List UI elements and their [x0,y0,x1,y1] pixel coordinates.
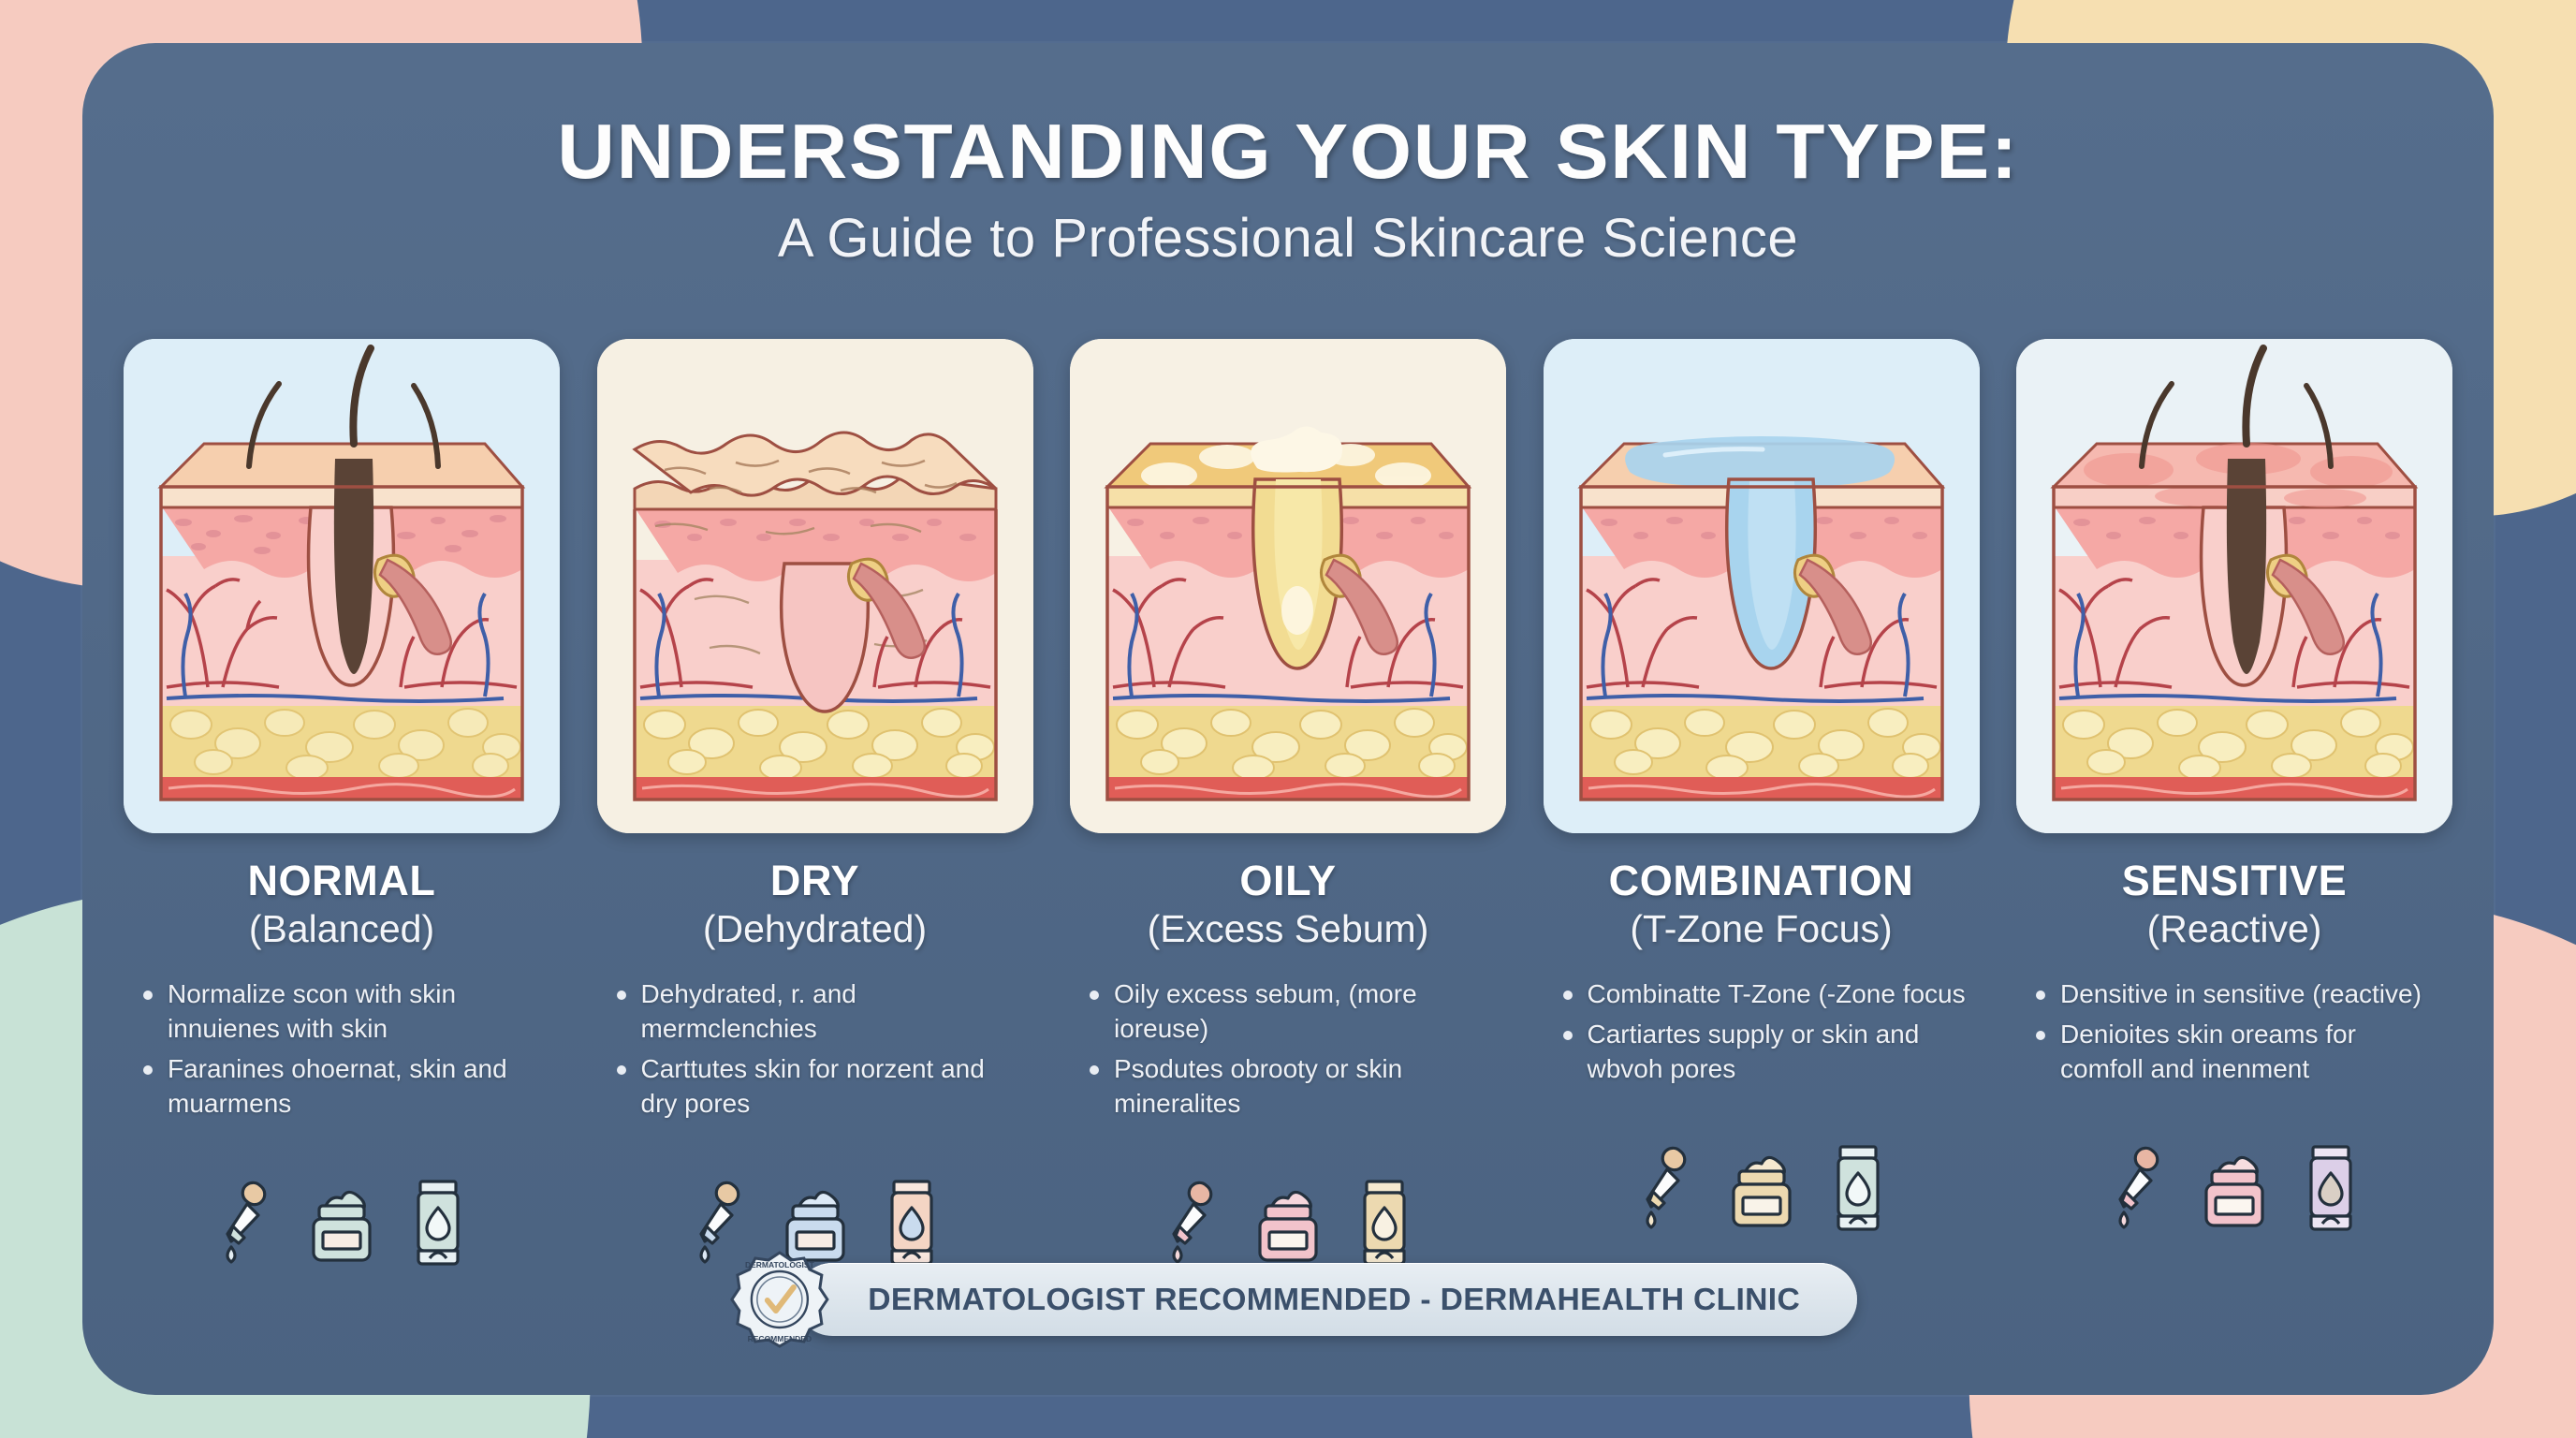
list-item: Oily excess sebum, (more ioreuse) [1082,977,1494,1047]
dropper-icon[interactable] [216,1180,274,1266]
card-bullet-list: Densitive in sensitive (reactive) Denioi… [2028,977,2440,1093]
card-title: DRY [770,859,859,902]
skin-type-card-combination[interactable]: COMBINATION (T-Zone Focus) Combinatte T-… [1542,339,1982,1266]
cream-jar-icon[interactable] [306,1185,377,1266]
skin-cross-section-dry [597,339,1033,833]
card-title: SENSITIVE [2122,859,2347,902]
list-item: Faranines ohoernat, skin and muarmens [136,1052,548,1122]
skin-cross-section-normal [124,339,560,833]
skin-type-card-sensitive[interactable]: SENSITIVE (Reactive) Densitive in sensit… [2014,339,2454,1266]
main-panel: UNDERSTANDING YOUR SKIN TYPE: A Guide to… [82,43,2494,1395]
card-qualifier: (Excess Sebum) [1148,909,1429,949]
list-item: Densitive in sensitive (reactive) [2028,977,2440,1012]
card-bullet-list: Normalize scon with skin innuienes with … [136,977,548,1127]
card-qualifier: (Reactive) [2147,909,2322,949]
card-qualifier: (Balanced) [249,909,434,949]
list-item: Denioites skin oreams for comfoll and in… [2028,1018,2440,1087]
skin-cross-section-sensitive [2016,339,2452,833]
footer-badge: DERMATOLOGIST RECOMMENDED DERMATOLOGIST … [729,1249,1847,1350]
list-item: Combinatte T-Zone (-Zone focus [1556,977,1968,1012]
tube-icon[interactable] [409,1178,467,1266]
badge-text: DERMATOLOGIST RECOMMENDED - DERMAHEALTH … [796,1263,1858,1336]
product-icon-row [2014,1143,2454,1231]
dropper-icon[interactable] [1636,1145,1694,1231]
list-item: Normalize scon with skin innuienes with … [136,977,548,1047]
list-item: Psodutes obrooty or skin mineralites [1082,1052,1494,1122]
card-qualifier: (Dehydrated) [703,909,927,949]
cream-jar-icon[interactable] [1726,1151,1797,1231]
tube-icon[interactable] [1829,1143,1887,1231]
infographic-stage: UNDERSTANDING YOUR SKIN TYPE: A Guide to… [0,0,2576,1438]
card-qualifier: (T-Zone Focus) [1630,909,1892,949]
product-icon-row [122,1178,562,1266]
product-icon-row [1542,1143,1982,1231]
skin-cross-section-oily [1070,339,1506,833]
tube-icon[interactable] [2302,1143,2360,1231]
skin-type-card-row: NORMAL (Balanced) Normalize scon with sk… [122,339,2454,1266]
card-title: COMBINATION [1609,859,1914,902]
page-subtitle: A Guide to Professional Skincare Science [82,207,2494,270]
card-bullet-list: Oily excess sebum, (more ioreuse) Psodut… [1082,977,1494,1127]
card-title: NORMAL [247,859,435,902]
list-item: Carttutes skin for norzent and dry pores [609,1052,1021,1122]
page-title: UNDERSTANDING YOUR SKIN TYPE: [82,112,2494,192]
seal-top-label: DERMATOLOGIST [745,1260,815,1269]
skin-cross-section-combination [1544,339,1980,833]
dropper-icon[interactable] [2109,1145,2167,1231]
card-bullet-list: Dehydrated, r. and mermclenchies Carttut… [609,977,1021,1127]
skin-type-card-dry[interactable]: DRY (Dehydrated) Dehydrated, r. and merm… [595,339,1035,1266]
skin-type-card-oily[interactable]: OILY (Excess Sebum) Oily excess sebum, (… [1068,339,1508,1266]
seal-bottom-label: RECOMMENDED [748,1334,812,1343]
card-bullet-list: Combinatte T-Zone (-Zone focus Cartiarte… [1556,977,1968,1093]
header: UNDERSTANDING YOUR SKIN TYPE: A Guide to… [82,112,2494,270]
list-item: Dehydrated, r. and mermclenchies [609,977,1021,1047]
card-title: OILY [1239,859,1336,902]
list-item: Cartiartes supply or skin and wbvoh pore… [1556,1018,1968,1087]
cream-jar-icon[interactable] [2199,1151,2270,1231]
checkmark-seal-icon: DERMATOLOGIST RECOMMENDED [729,1249,830,1350]
skin-type-card-normal[interactable]: NORMAL (Balanced) Normalize scon with sk… [122,339,562,1266]
